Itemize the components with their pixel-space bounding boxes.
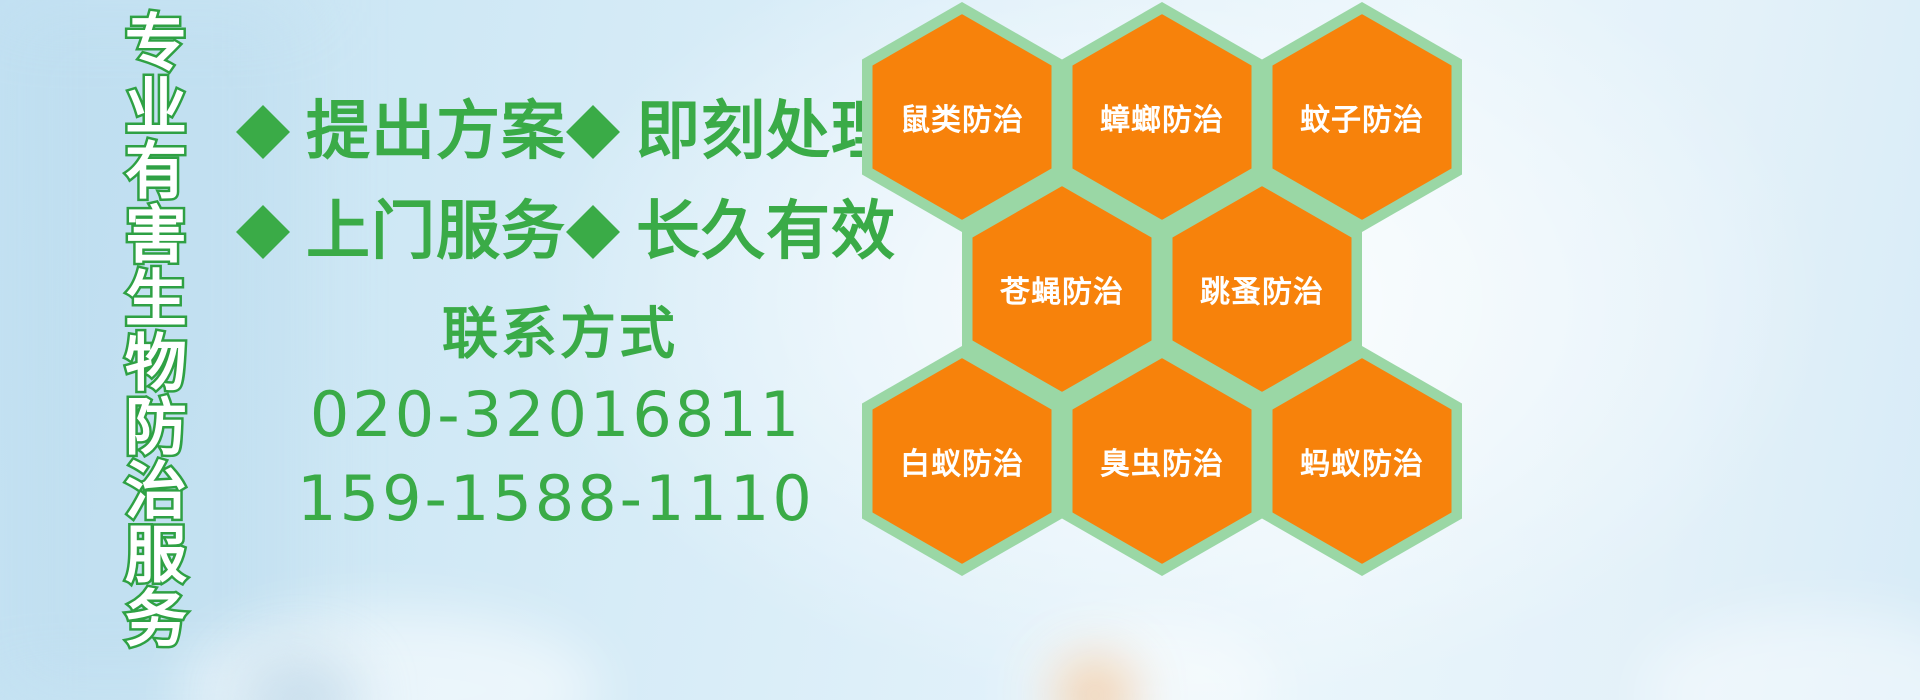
service-honeycomb: 鼠类防治 蟑螂防治 蚊子防治 苍蝇防治 跳蚤防治 白蚁防治 [862, 0, 1462, 700]
feature-row: 上门服务 长久有效 [236, 182, 876, 282]
background-haze-b [240, 655, 360, 700]
contact-title: 联系方式 [236, 300, 876, 370]
diamond-icon [236, 78, 290, 132]
contact-block: 联系方式 020-32016811 159-1588-1110 [236, 300, 876, 537]
diamond-icon [566, 78, 620, 132]
feature-row: 提出方案 即刻处理 [236, 82, 876, 182]
feature-item: 长久有效 [566, 200, 896, 264]
service-hex-ant[interactable]: 蚂蚁防治 [1262, 346, 1462, 576]
feature-label: 提出方案 [306, 100, 566, 164]
phone-number-landline[interactable]: 020-32016811 [236, 376, 876, 454]
background-haze-a [180, 610, 600, 700]
feature-item: 即刻处理 [566, 100, 896, 164]
background-haze-e [1640, 610, 1920, 700]
service-label: 白蚁防治 [862, 346, 1062, 576]
vertical-headline: 专业有害生物防治服务 [118, 10, 182, 650]
diamond-icon [236, 178, 290, 232]
feature-item: 上门服务 [236, 200, 566, 264]
phone-number-mobile[interactable]: 159-1588-1110 [236, 460, 876, 538]
service-hex-termite[interactable]: 白蚁防治 [862, 346, 1062, 576]
feature-label: 上门服务 [306, 200, 566, 264]
feature-label: 长久有效 [636, 200, 896, 264]
feature-list: 提出方案 即刻处理 上门服务 长久有效 [236, 82, 876, 282]
service-hex-bedbug[interactable]: 臭虫防治 [1062, 346, 1262, 576]
feature-item: 提出方案 [236, 100, 566, 164]
feature-label: 即刻处理 [636, 100, 896, 164]
pest-control-banner: 专业有害生物防治服务 提出方案 即刻处理 上门服务 长久有效 [0, 0, 1920, 700]
service-label: 臭虫防治 [1062, 346, 1262, 576]
diamond-icon [566, 178, 620, 232]
service-label: 蚂蚁防治 [1262, 346, 1462, 576]
